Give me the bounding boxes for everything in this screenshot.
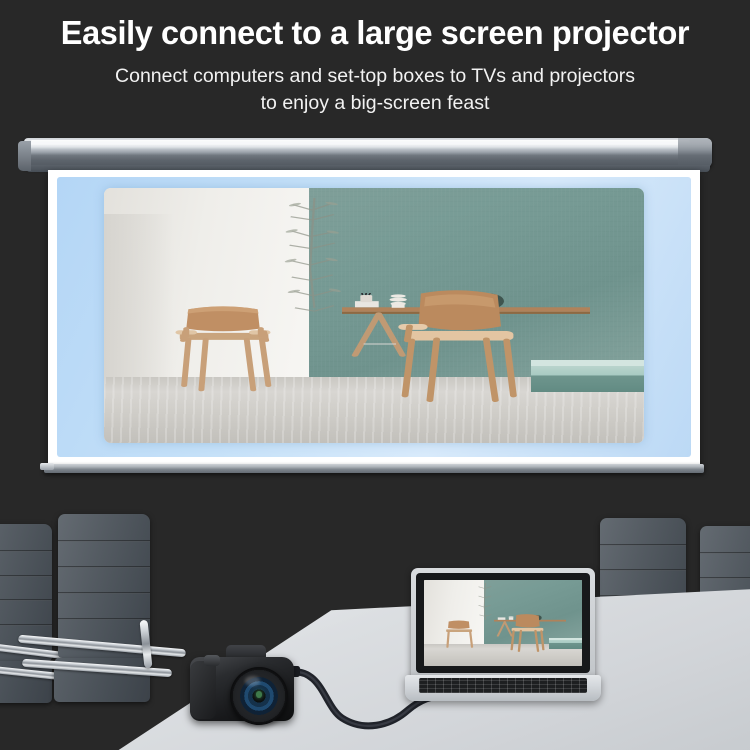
laptop-base: [405, 675, 601, 701]
subtitle-line-2: to enjoy a big-screen feast: [0, 90, 750, 117]
projected-image: [104, 188, 644, 443]
wooden-armchair-left-icon: [443, 620, 475, 654]
wooden-armchair-left-icon: [169, 305, 277, 407]
laptop-display[interactable]: [424, 580, 582, 666]
wooden-armchair-right-icon: [509, 614, 545, 654]
screen-roller-bar: [24, 138, 712, 168]
projection-screen-unit: [0, 138, 750, 488]
laptop-lid: [411, 568, 595, 678]
interior-scene-laptop: [424, 580, 582, 666]
camera-hand-grip: [190, 661, 216, 719]
lens-highlight: [245, 676, 260, 685]
camera-lens: [230, 667, 288, 725]
roller-highlight: [30, 140, 690, 145]
office-chair-left-far: [0, 524, 52, 714]
conference-room-scene: [0, 500, 750, 750]
page-subtitle: Connect computers and set-top boxes to T…: [0, 50, 750, 117]
office-chair-left-near: [58, 514, 150, 714]
roller-end-cap: [18, 141, 31, 171]
page-title: Easily connect to a large screen project…: [6, 0, 745, 50]
chair-backrest: [58, 514, 150, 658]
wooden-armchair-right-icon: [396, 290, 520, 407]
subtitle-line-1: Connect computers and set-top boxes to T…: [0, 63, 750, 90]
scene-left-wall-shadow: [104, 214, 174, 377]
screen-canvas: [48, 170, 700, 466]
interior-scene-large: [104, 188, 644, 443]
header-text-block: Easily connect to a large screen project…: [0, 0, 750, 117]
product-banner: Easily connect to a large screen project…: [0, 0, 750, 750]
hanging-plant-icon: [476, 583, 495, 631]
screen-bottom-bar-cap: [40, 463, 54, 470]
laptop-computer[interactable]: [405, 568, 601, 708]
hanging-plant-icon: [282, 198, 347, 341]
laptop-bezel: [416, 573, 590, 673]
camera-mode-dial[interactable]: [204, 655, 220, 666]
dslr-camera[interactable]: [190, 643, 300, 731]
screen-bottom-weight-bar: [44, 464, 704, 473]
laptop-keyboard[interactable]: [419, 678, 587, 693]
